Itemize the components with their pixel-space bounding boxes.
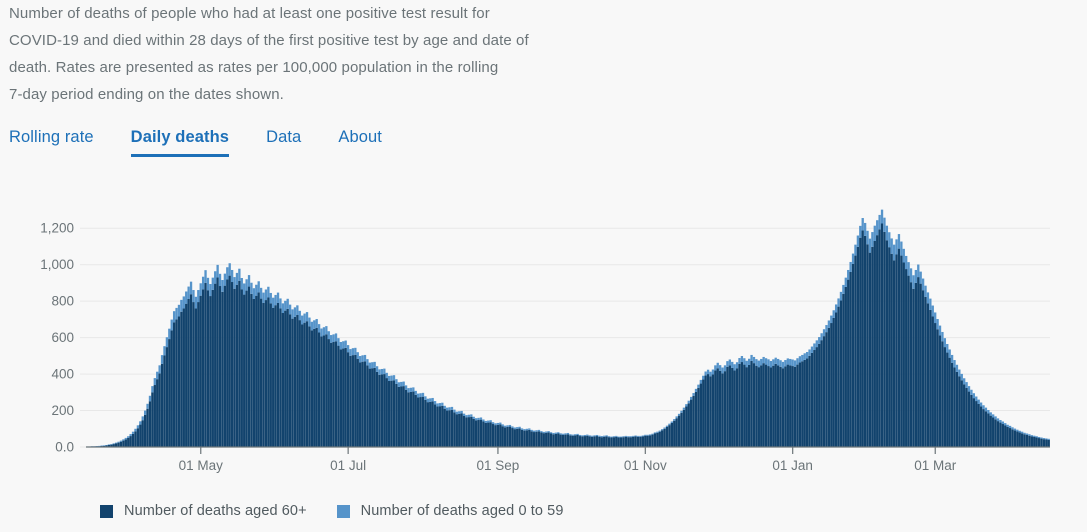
svg-text:01 May: 01 May: [179, 458, 224, 473]
svg-text:01 Sep: 01 Sep: [477, 458, 520, 473]
svg-text:400: 400: [51, 367, 74, 382]
chart-legend: Number of deaths aged 60+ Number of deat…: [100, 500, 594, 522]
covid-deaths-panel: Number of deaths of people who had at le…: [0, 0, 1087, 532]
tab-data[interactable]: Data: [266, 127, 301, 157]
description-line: death. Rates are presented as rates per …: [9, 54, 569, 81]
chart-description: Number of deaths of people who had at le…: [9, 0, 569, 108]
legend-swatch-60-plus: [100, 505, 113, 518]
svg-text:01 Nov: 01 Nov: [624, 458, 667, 473]
tab-daily-deaths[interactable]: Daily deaths: [131, 127, 229, 157]
svg-text:01 Jan: 01 Jan: [772, 458, 813, 473]
svg-text:0.0: 0.0: [55, 440, 74, 455]
svg-text:01 Mar: 01 Mar: [914, 458, 957, 473]
chart-canvas: 0.02004006008001,0001,20001 May01 Jul01 …: [0, 178, 1087, 478]
tab-bar: Rolling rate Daily deaths Data About: [9, 127, 419, 159]
svg-text:800: 800: [51, 294, 74, 309]
daily-deaths-chart: 0.02004006008001,0001,20001 May01 Jul01 …: [0, 178, 1087, 478]
svg-text:600: 600: [51, 330, 74, 345]
svg-text:1,200: 1,200: [40, 221, 74, 236]
legend-label-0-to-59: Number of deaths aged 0 to 59: [361, 503, 564, 519]
bars-group: [86, 210, 1050, 448]
description-line: COVID-19 and died within 28 days of the …: [9, 27, 569, 54]
legend-item-60-plus: Number of deaths aged 60+: [100, 503, 307, 519]
svg-text:200: 200: [51, 403, 74, 418]
svg-text:1,000: 1,000: [40, 257, 74, 272]
description-line: 7-day period ending on the dates shown.: [9, 81, 569, 108]
legend-label-60-plus: Number of deaths aged 60+: [124, 503, 307, 519]
description-line: Number of deaths of people who had at le…: [9, 0, 569, 27]
legend-swatch-0-to-59: [337, 505, 350, 518]
svg-text:01 Jul: 01 Jul: [330, 458, 366, 473]
legend-item-0-to-59: Number of deaths aged 0 to 59: [337, 503, 564, 519]
tab-rolling-rate[interactable]: Rolling rate: [9, 127, 94, 157]
tab-about[interactable]: About: [338, 127, 382, 157]
